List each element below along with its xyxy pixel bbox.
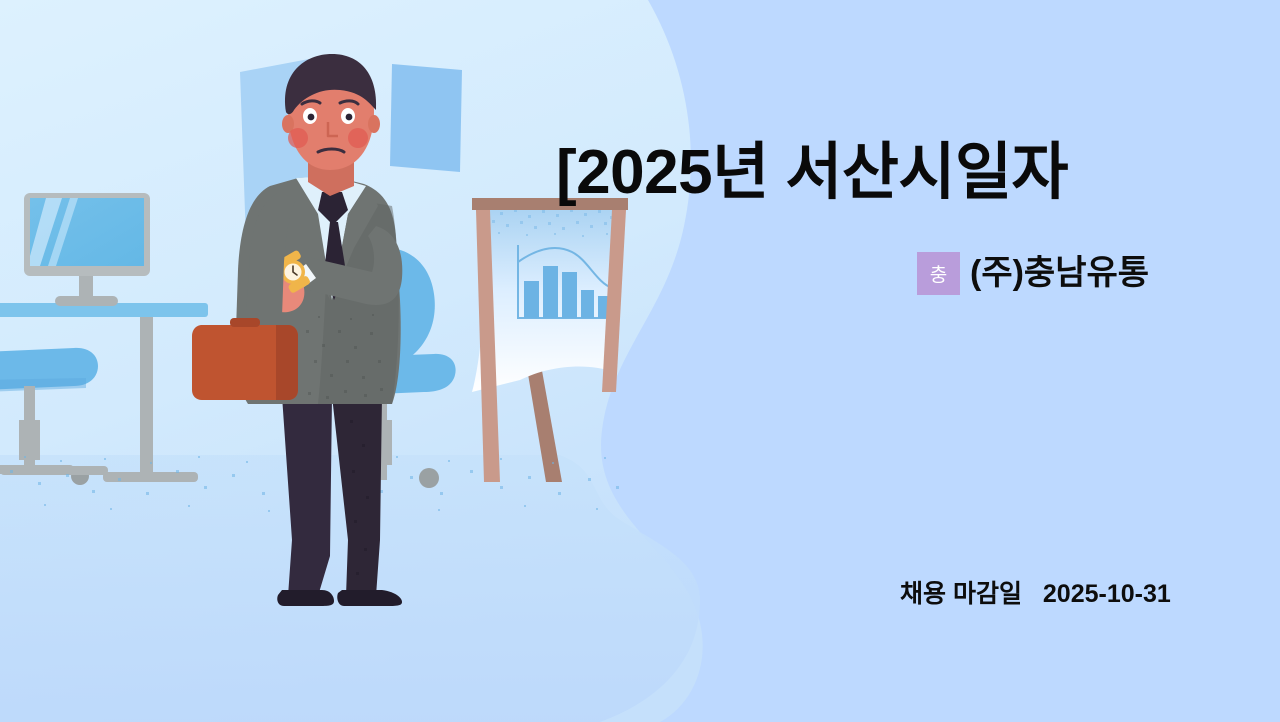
right-cheek: [348, 128, 368, 148]
right-shoe: [337, 590, 402, 606]
left-trouser-leg: [282, 396, 332, 596]
briefcase: [192, 318, 298, 400]
company-badge: 충: [917, 252, 960, 295]
deadline-date: 2025-10-31: [1043, 580, 1171, 608]
briefcase-handle: [230, 318, 260, 327]
monitor: [24, 193, 150, 306]
deadline-row: 채용 마감일 2025-10-31: [900, 574, 1171, 610]
page-title: [2025년 서산시일자: [556, 134, 1276, 212]
deadline-label: 채용 마감일: [900, 580, 1022, 608]
desk-chair: [0, 348, 98, 485]
businessman: [192, 54, 402, 606]
right-trouser-leg: [332, 396, 382, 596]
left-shoe: [277, 590, 334, 606]
office-illustration: [0, 0, 760, 722]
wall-poster-right: [390, 64, 462, 172]
flip-chart-easel: [472, 198, 628, 482]
left-cheek: [288, 128, 308, 148]
job-posting-poster: [2025년 서산시일자 충 (주)충남유통 채용 마감일 2025-10-31: [0, 0, 1280, 722]
company-row[interactable]: 충 (주)충남유통: [917, 250, 1149, 296]
company-name[interactable]: (주)충남유통: [970, 252, 1149, 295]
